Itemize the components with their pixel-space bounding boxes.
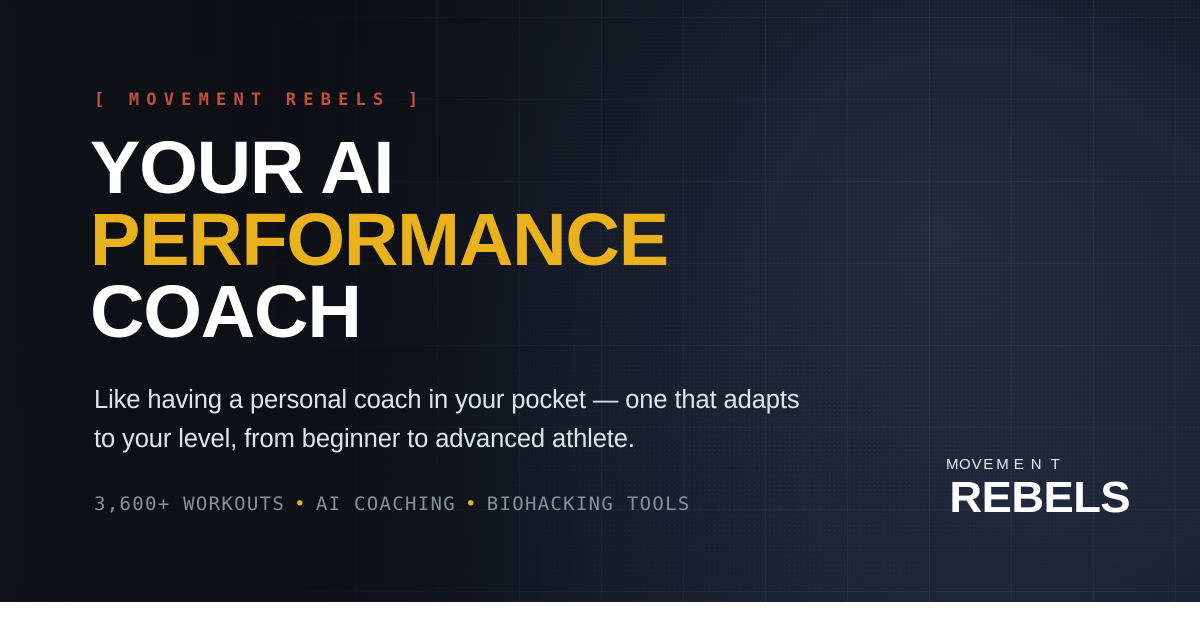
headline-line-1: YOUR AI <box>90 132 967 204</box>
subheadline-line-2: to your level, from beginner to advanced… <box>94 420 894 459</box>
brand-logo: M O V E M E N T REBELS <box>944 455 1130 521</box>
logo-top-letter: E <box>983 455 996 475</box>
logo-wordmark-main: REBELS <box>944 475 1136 521</box>
logo-top-letter: M <box>996 455 1014 475</box>
subheadline-line-1: Like having a personal coach in your poc… <box>94 381 894 420</box>
subheadline: Like having a personal coach in your poc… <box>94 381 894 459</box>
headline: YOUR AI PERFORMANCE COACH <box>90 132 950 348</box>
feature-stats-row: 3,600+ WORKOUTS • AI COACHING • BIOHACKI… <box>94 493 691 515</box>
logo-top-letter: E <box>1014 455 1031 475</box>
stat-ai-coaching: AI COACHING <box>316 493 456 515</box>
stat-separator-dot-1: • <box>294 495 307 514</box>
headline-line-3: COACH <box>90 276 967 348</box>
logo-top-letter: O <box>959 455 972 475</box>
headline-line-2-accent: PERFORMANCE <box>90 204 967 276</box>
hero-content: [ MOVEMENT REBELS ] YOUR AI PERFORMANCE … <box>94 0 954 602</box>
logo-wordmark-top: M O V E M E N T <box>944 455 1130 475</box>
stat-biohacking-tools: BIOHACKING TOOLS <box>487 493 691 515</box>
logo-top-letter: V <box>972 455 984 475</box>
stat-workouts: 3,600+ WORKOUTS <box>94 493 285 515</box>
hero-panel: [ MOVEMENT REBELS ] YOUR AI PERFORMANCE … <box>0 0 1200 602</box>
stat-separator-dot-2: • <box>465 495 478 514</box>
logo-top-letter: M <box>946 455 959 475</box>
brand-eyebrow: [ MOVEMENT REBELS ] <box>94 90 425 110</box>
logo-top-letter: T <box>1051 455 1060 475</box>
promo-banner: [ MOVEMENT REBELS ] YOUR AI PERFORMANCE … <box>0 0 1200 630</box>
logo-top-letter: N <box>1031 455 1051 475</box>
